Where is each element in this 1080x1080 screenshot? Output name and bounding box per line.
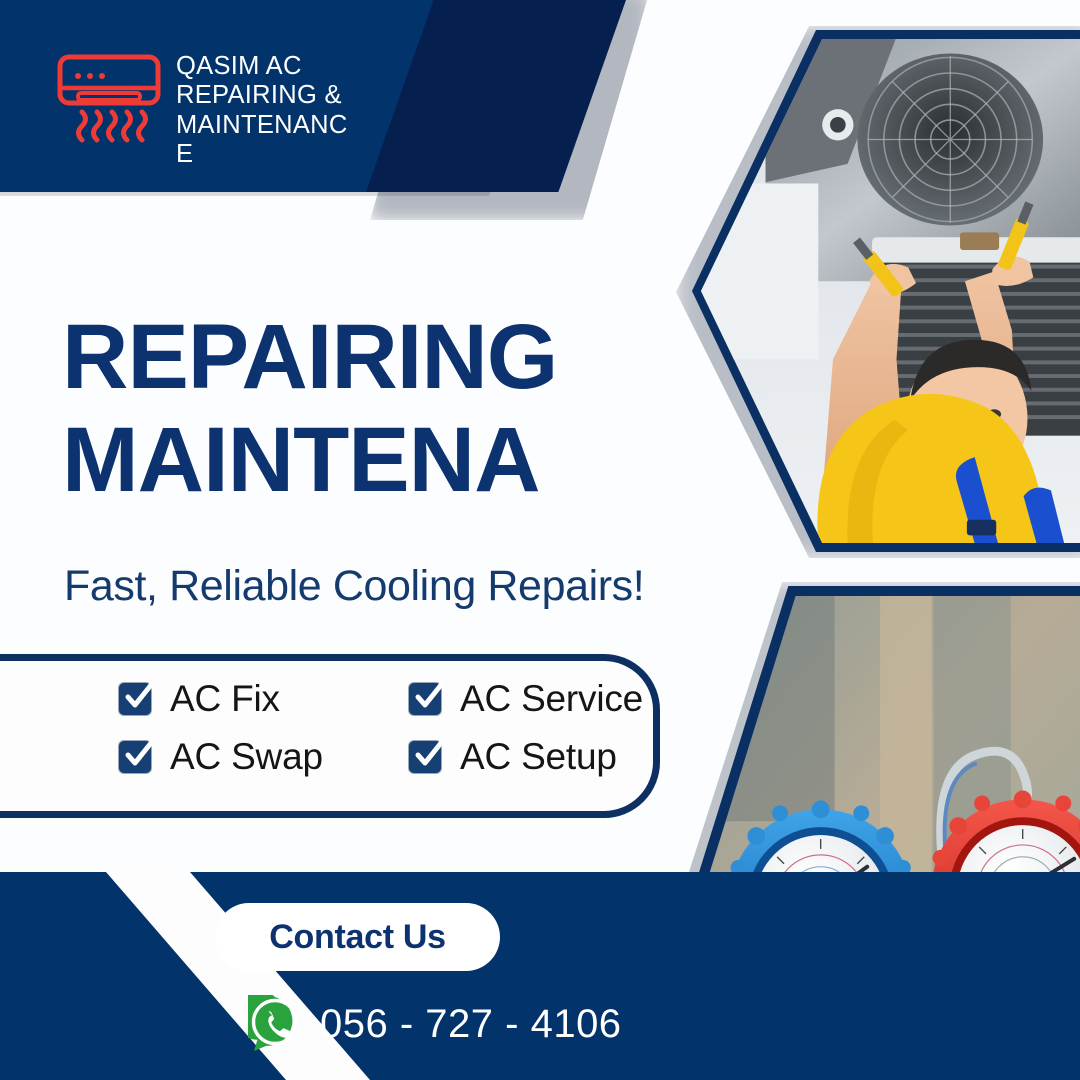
service-label: AC Fix (170, 678, 280, 720)
air-conditioner-icon (56, 52, 162, 144)
checkbox-checked-icon[interactable] (118, 682, 152, 716)
list-item[interactable]: AC Service (408, 678, 678, 720)
service-label: AC Setup (460, 736, 617, 778)
list-item[interactable]: AC Setup (408, 736, 678, 778)
contact-us-label: Contact Us (269, 918, 445, 957)
checkbox-checked-icon[interactable] (118, 740, 152, 774)
tagline: Fast, Reliable Cooling Repairs! (64, 562, 644, 611)
contact-us-button[interactable]: Contact Us (215, 903, 500, 971)
checkbox-checked-icon[interactable] (408, 682, 442, 716)
poster-canvas: QASIM AC REPAIRING & MAINTENANCE REPAIRI… (0, 0, 1080, 1080)
list-item[interactable]: AC Fix (118, 678, 408, 720)
brand-name: QASIM AC REPAIRING & MAINTENANCE (176, 48, 358, 169)
headline-line-1: REPAIRING (62, 306, 557, 409)
brand-logo: QASIM AC REPAIRING & MAINTENANCE (56, 48, 358, 169)
headline-line-2: MAINTENA (62, 409, 557, 512)
service-label: AC Swap (170, 736, 323, 778)
service-label: AC Service (460, 678, 643, 720)
checkbox-checked-icon[interactable] (408, 740, 442, 774)
phone-contact[interactable]: 056 - 727 - 4106 (248, 995, 622, 1053)
phone-number: 056 - 727 - 4106 (320, 1002, 622, 1047)
whatsapp-icon[interactable] (248, 995, 302, 1053)
page-title: REPAIRING MAINTENA (62, 306, 557, 512)
list-item[interactable]: AC Swap (118, 736, 408, 778)
services-list: AC Fix AC Service AC Swap AC Setup (118, 678, 678, 778)
